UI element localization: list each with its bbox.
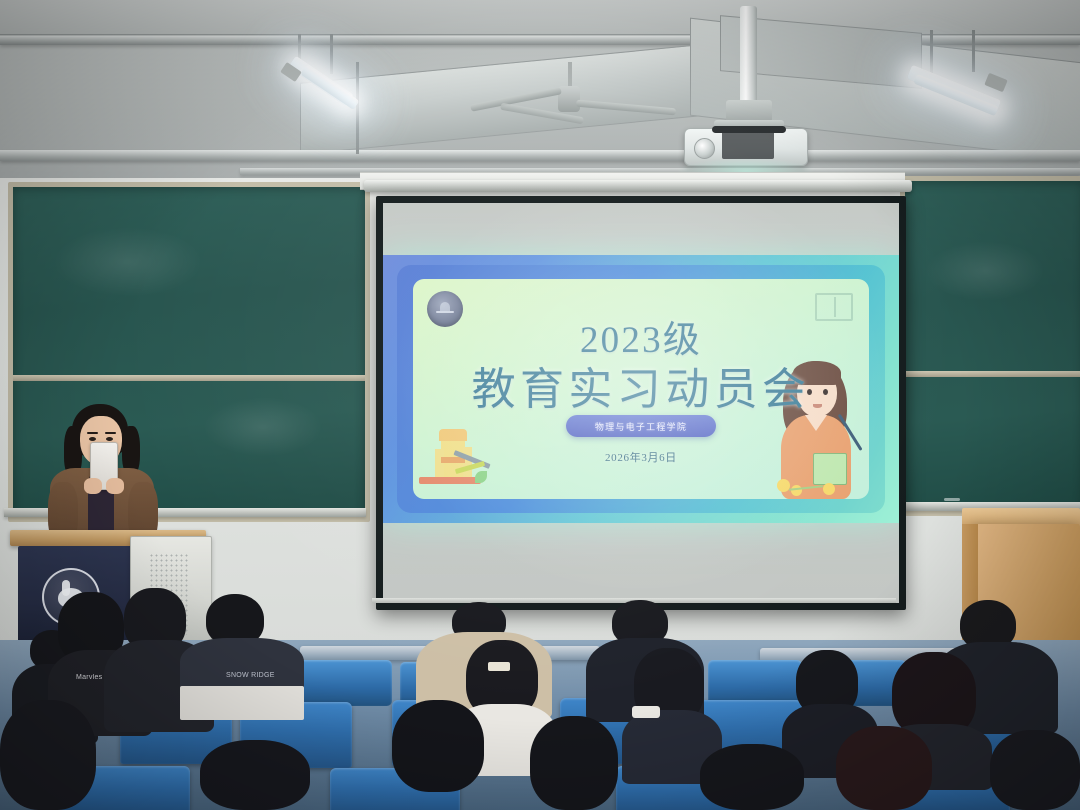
pull-down-projection-screen: 2023级 教育实习动员会 物理与电子工程学院 2026年3月6日 [376, 196, 906, 610]
department-badge-label: 物理与电子工程学院 [595, 420, 687, 433]
department-badge: 物理与电子工程学院 [566, 415, 716, 437]
slide-date: 2026年3月6日 [413, 449, 869, 465]
ceiling [0, 0, 1080, 185]
chalk-piece [944, 498, 960, 501]
seat-back [296, 660, 392, 706]
slide-title-line-2: 教育实习动员会 [413, 353, 869, 417]
classroom-photo: 2023级 教育实习动员会 物理与电子工程学院 2026年3月6日 [0, 0, 1080, 810]
jacket-text: SNOW RIDGE [226, 672, 275, 679]
jacket-text: Marvles [76, 674, 102, 681]
projected-slide: 2023级 教育实习动员会 物理与电子工程学院 2026年3月6日 [383, 255, 899, 523]
screen-mount-rail [364, 180, 912, 192]
blackboard-right [900, 176, 1080, 516]
